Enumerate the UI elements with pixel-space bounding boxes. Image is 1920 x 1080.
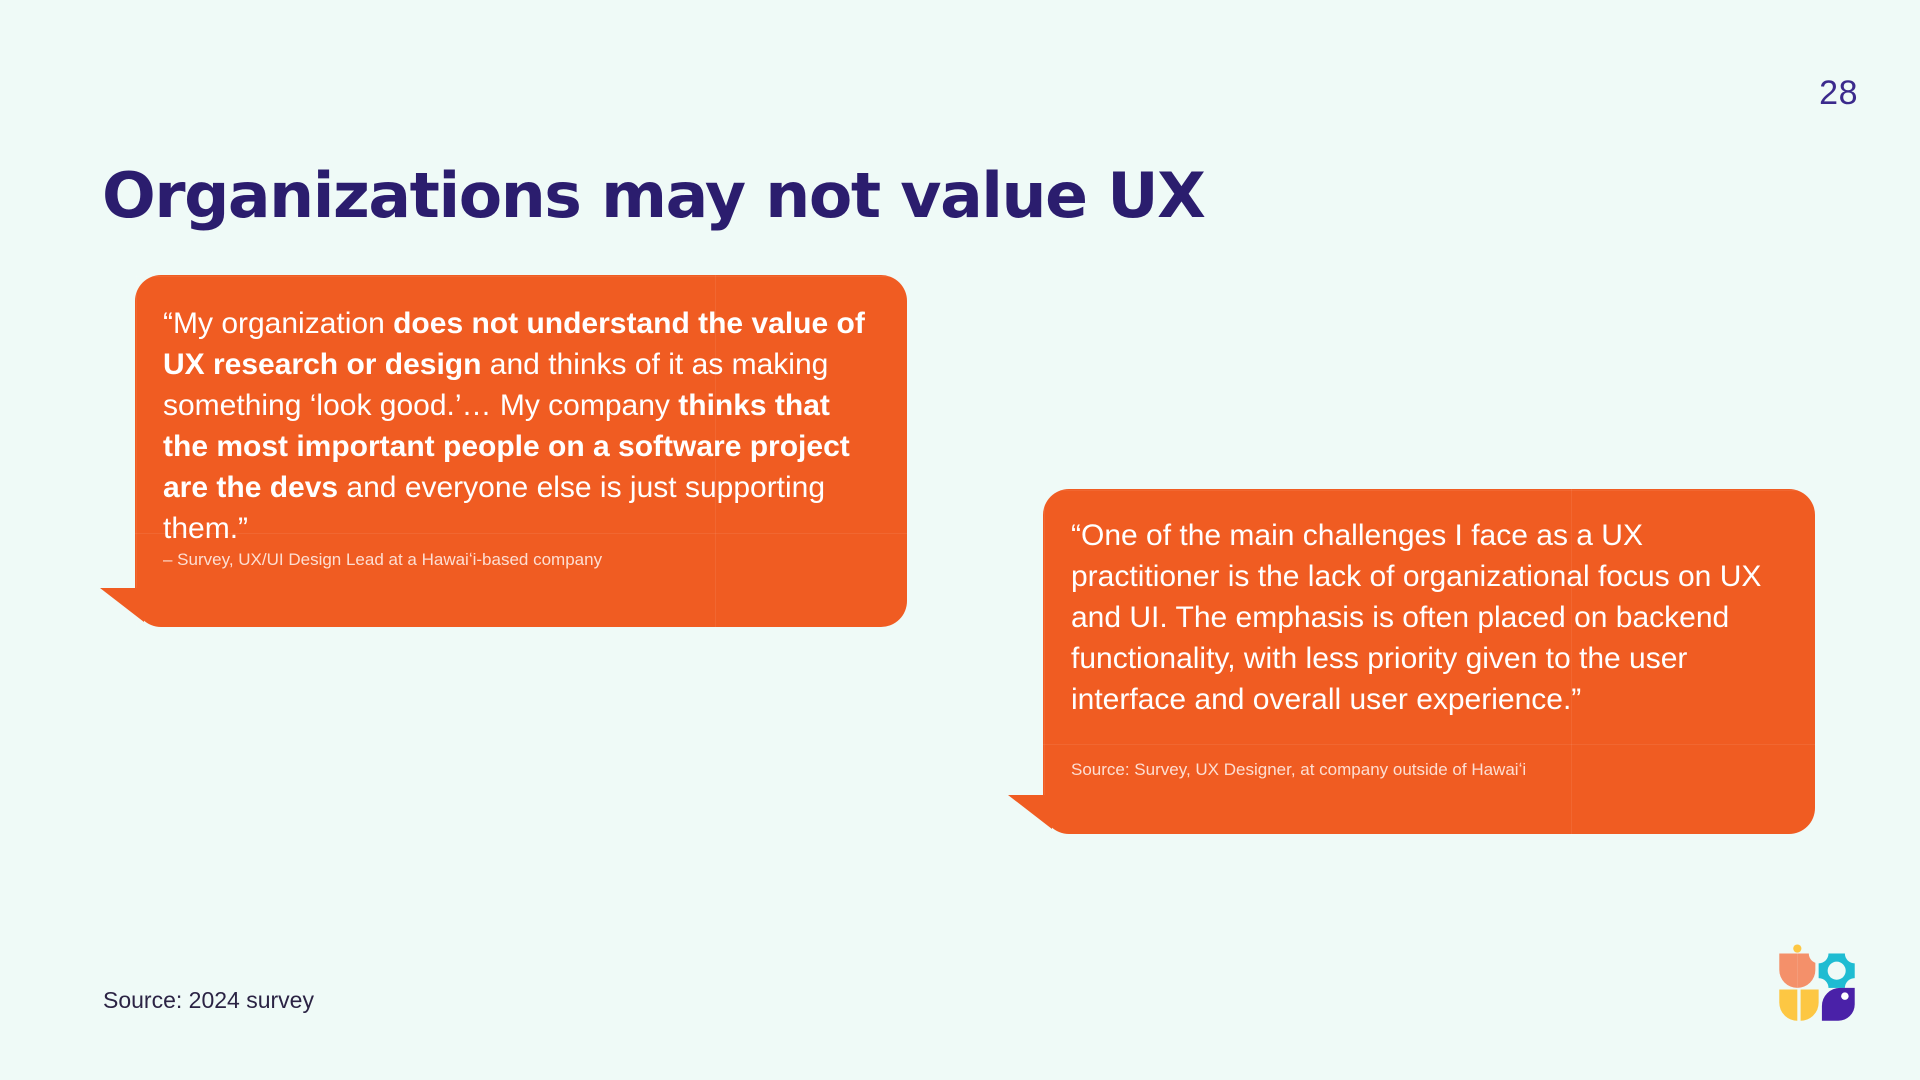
logo-quadrant-bottom-left	[1779, 990, 1818, 1021]
quote-attribution-two: Source: Survey, UX Designer, at company …	[1071, 759, 1783, 781]
quote-bubble-one: “My organization does not understand the…	[135, 275, 907, 627]
quote-text-two: “One of the main challenges I face as a …	[1071, 515, 1783, 720]
bubble-seam	[1043, 744, 1815, 745]
quote-segment: “My organization	[163, 307, 393, 340]
quote-bubble-one-tail	[100, 588, 144, 622]
page-number: 28	[1819, 74, 1858, 113]
slide-canvas: 28 Organizations may not value UX “My or…	[0, 0, 1920, 1080]
quote-bubble-two: “One of the main challenges I face as a …	[1043, 489, 1815, 834]
bubble-seam	[135, 276, 907, 277]
bubble-seam	[1043, 490, 1815, 491]
brand-logo	[1776, 942, 1858, 1024]
quote-segment: “One of the main challenges I face as a …	[1071, 519, 1761, 716]
bubble-seam	[1044, 489, 1045, 834]
quote-text-one: “My organization does not understand the…	[163, 303, 875, 549]
quote-bubble-two-tail	[1008, 795, 1052, 829]
bubble-seam	[136, 275, 137, 627]
footer-source: Source: 2024 survey	[103, 987, 314, 1014]
quote-attribution-one: – Survey, UX/UI Design Lead at a Hawaiʻi…	[163, 549, 875, 571]
page-title: Organizations may not value UX	[102, 160, 1204, 232]
